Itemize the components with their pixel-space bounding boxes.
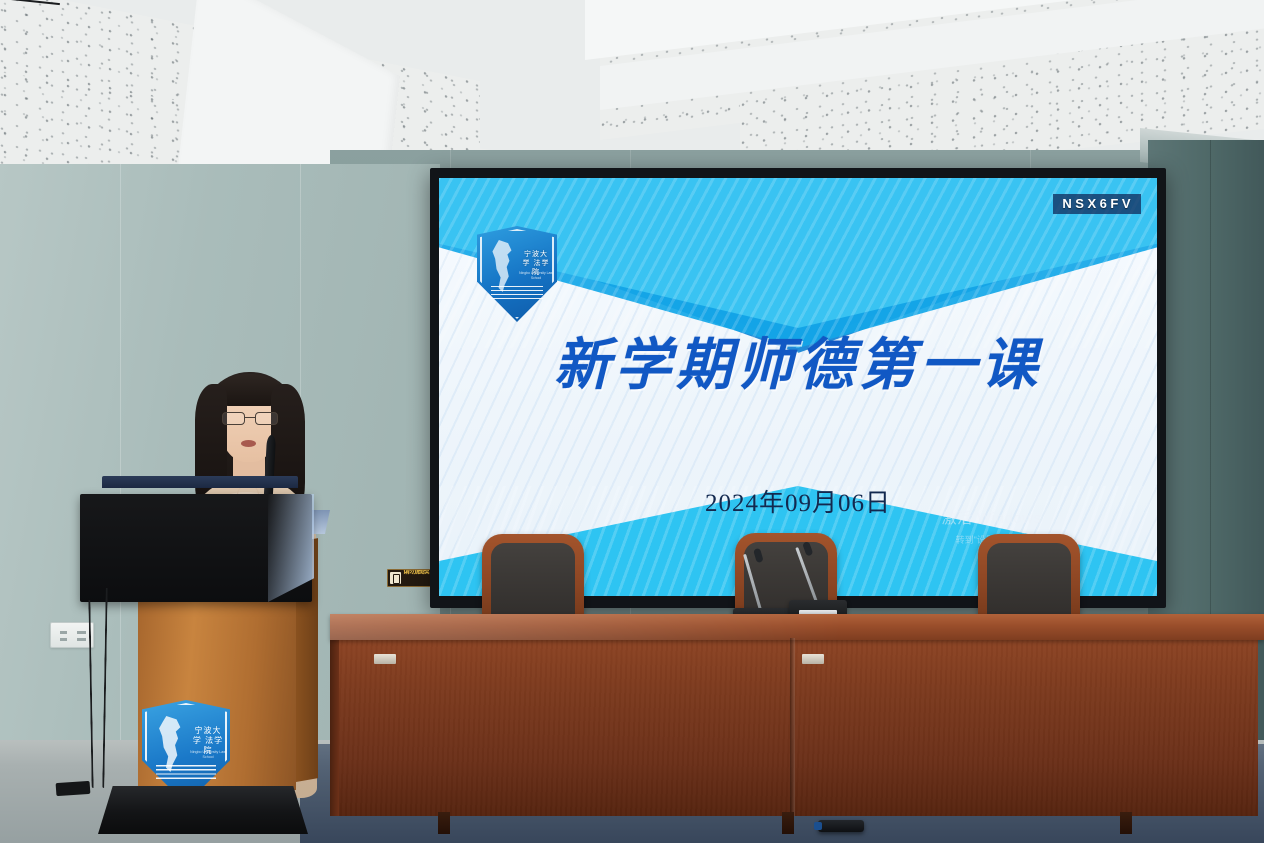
table-leg — [782, 812, 794, 834]
table-front-panel — [336, 638, 1258, 816]
panel-glare — [268, 494, 314, 602]
display-code-badge: NSX6FV — [1053, 194, 1141, 214]
table-leg — [438, 812, 450, 834]
slide-title: 新学期师德第一课 — [439, 320, 1157, 401]
table-latch — [374, 654, 396, 664]
mouth — [241, 440, 256, 447]
table-latch — [802, 654, 824, 664]
podium-front-panel — [80, 494, 312, 602]
slide-date: 2024年09月06日 — [439, 483, 1157, 519]
glasses-icon — [222, 412, 278, 425]
shield-outline — [480, 229, 554, 319]
power-adapter — [56, 781, 91, 796]
table-side-panel — [330, 638, 339, 816]
university-shield-logo: 宁波大学 法学院 Ningbo University Law School — [477, 226, 557, 322]
warning-icon — [390, 572, 401, 584]
lecture-hall-photo: 请勿触摸 DO NOT TOUCH 宁波大学 法学院 Ningbo Univer… — [0, 0, 1264, 843]
remote-control-on-floor — [818, 820, 864, 832]
speaker-podium: 宁波大学 法学院 Ningbo University Law School — [80, 480, 330, 840]
table-leg — [1120, 812, 1132, 834]
podium-base — [98, 786, 308, 834]
table-top — [330, 614, 1264, 640]
podium-lip — [102, 476, 298, 488]
sign-label: 请勿触摸 — [403, 569, 429, 575]
table-seam — [790, 638, 795, 816]
conference-table — [330, 614, 1264, 840]
